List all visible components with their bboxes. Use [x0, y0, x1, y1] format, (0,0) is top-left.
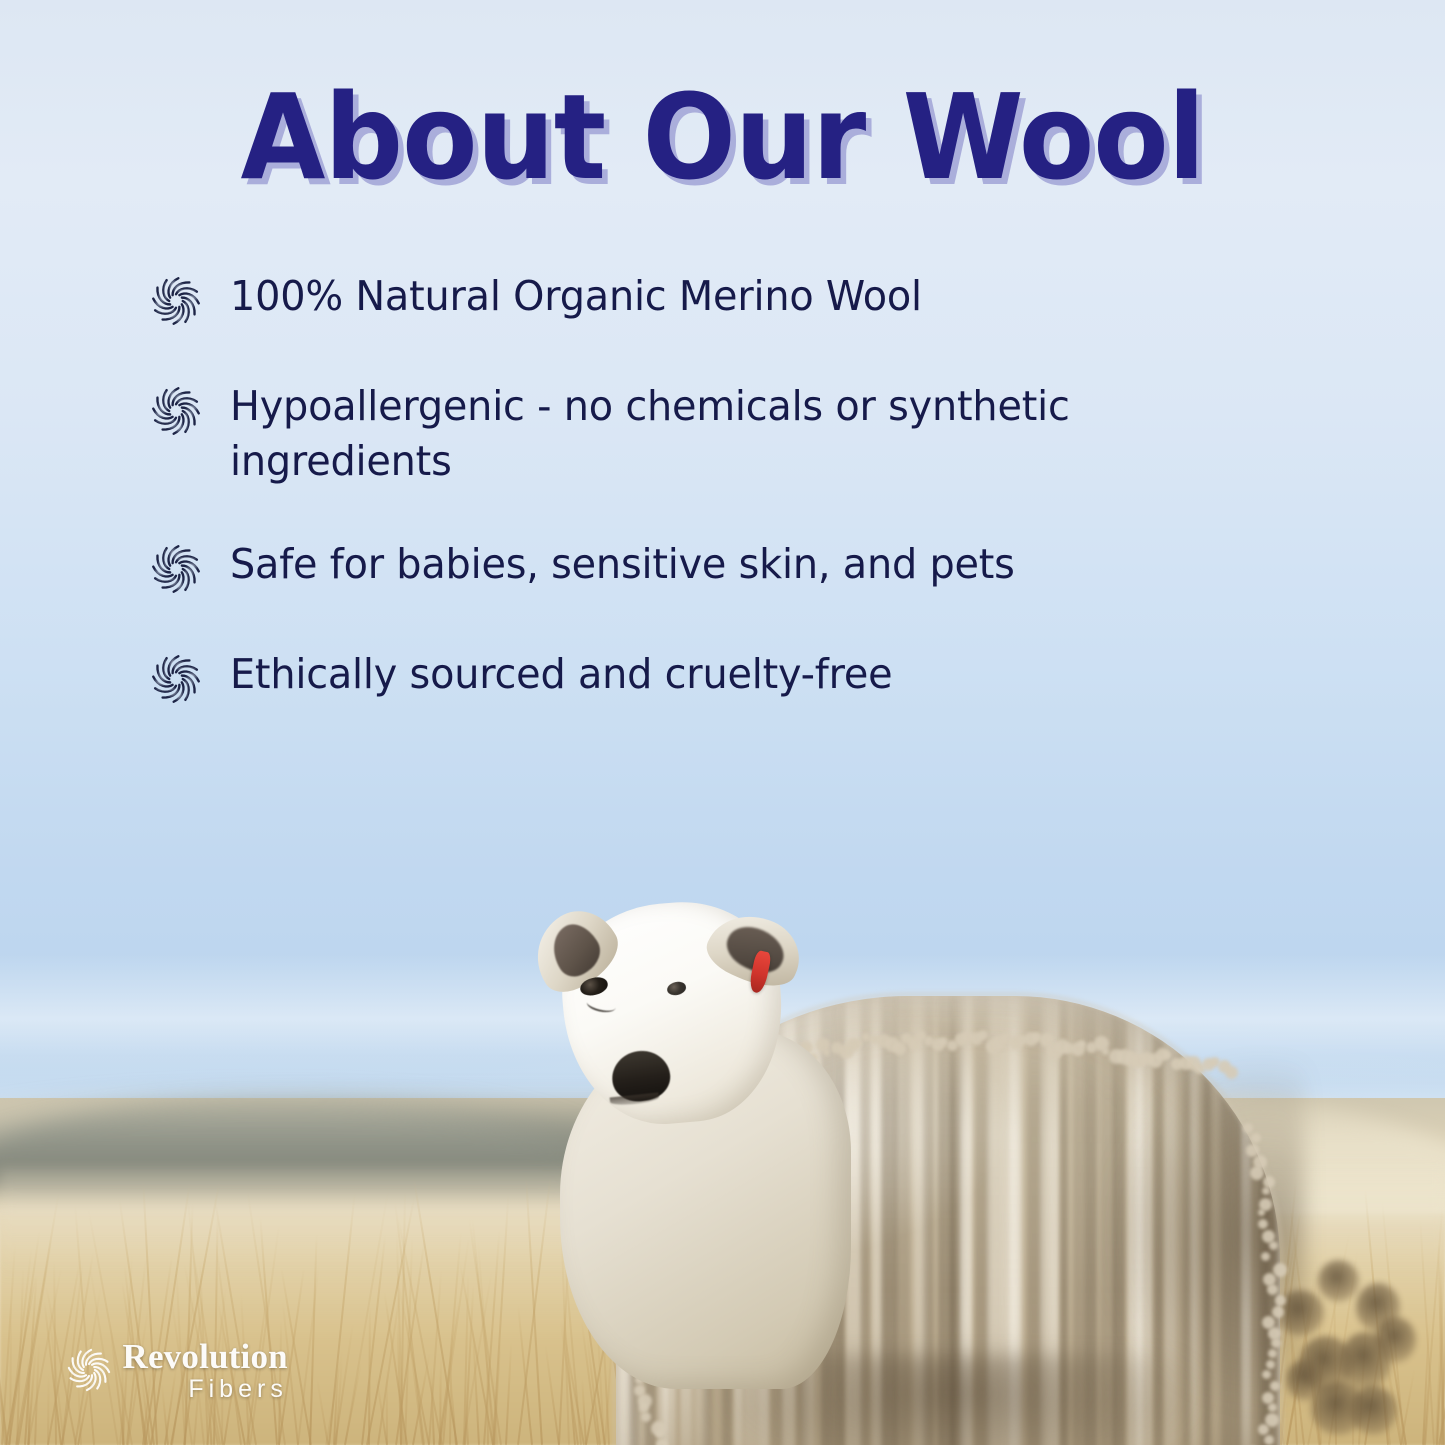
fleece-tuft	[862, 1033, 870, 1041]
wool-swirl-icon	[150, 543, 202, 595]
fleece-tuft	[641, 1412, 651, 1422]
fleece-tuft	[854, 1039, 862, 1047]
bush-blob	[1350, 1386, 1398, 1436]
fleece-tuft	[1258, 1219, 1268, 1229]
feature-text: Safe for babies, sensitive skin, and pet…	[230, 537, 1015, 592]
list-item: Hypoallergenic - no chemicals or synthet…	[150, 379, 1277, 489]
fleece-tuft	[1272, 1306, 1284, 1318]
list-item: 100% Natural Organic Merino Wool	[150, 269, 1277, 327]
fleece-tuft	[1264, 1435, 1274, 1445]
fleece-tuft	[823, 1049, 830, 1056]
list-item: Safe for babies, sensitive skin, and pet…	[150, 537, 1277, 595]
fleece-tuft	[1258, 1209, 1265, 1216]
fleece-tuft	[1225, 1066, 1238, 1079]
fleece-tuft	[1250, 1166, 1264, 1180]
wool-swirl-icon	[150, 275, 202, 327]
fleece-tuft	[1269, 1241, 1278, 1250]
fleece-tuft	[1271, 1338, 1281, 1348]
fleece-tuft	[1262, 1392, 1274, 1404]
fleece-tuft	[1163, 1051, 1171, 1059]
page-title: About Our Wool	[51, 77, 1395, 197]
brand-logo-wordmark: Revolution Fibers	[122, 1339, 287, 1402]
fleece-tuft	[1262, 1370, 1271, 1379]
sheep-photo-subject	[527, 903, 1336, 1445]
bush-blob	[1375, 1317, 1416, 1363]
fleece-tuft	[1258, 1424, 1269, 1435]
fleece-tuft	[1273, 1263, 1287, 1277]
fleece-tuft	[656, 1430, 664, 1438]
revolution-fibers-swirl-logo-icon	[66, 1347, 112, 1393]
fleece-tuft	[1268, 1349, 1277, 1358]
wool-swirl-icon	[150, 653, 202, 705]
fleece-tuft	[978, 1030, 988, 1040]
list-item: Ethically sourced and cruelty-free	[150, 647, 1277, 705]
fleece-tuft	[1270, 1381, 1280, 1391]
brand-name: Revolution	[122, 1339, 287, 1374]
fleece-tuft	[1268, 1403, 1277, 1412]
fleece-tuft	[1275, 1295, 1286, 1306]
brand-subtitle: Fibers	[122, 1377, 287, 1402]
fleece-tuft	[656, 1439, 668, 1445]
fleece-tuft	[1251, 1133, 1261, 1143]
wool-product-infographic: About Our Wool 100% Natural Organic Meri…	[0, 0, 1445, 1445]
feature-text: Hypoallergenic - no chemicals or synthet…	[230, 379, 1210, 489]
brand-logo: Revolution Fibers	[66, 1339, 287, 1402]
fleece-tuft	[1102, 1048, 1109, 1055]
feature-text: 100% Natural Organic Merino Wool	[230, 269, 922, 324]
sheep-ear-left-inner	[543, 916, 608, 982]
fleece-tuft	[1266, 1360, 1275, 1369]
fleece-tuft	[1243, 1123, 1253, 1133]
fleece-tuft	[1261, 1252, 1270, 1261]
feature-list: 100% Natural Organic Merino Wool Hypoall…	[150, 269, 1277, 757]
fleece-tuft	[1262, 1187, 1270, 1195]
wool-swirl-icon	[150, 385, 202, 437]
fleece-tuft	[1267, 1284, 1278, 1295]
feature-text: Ethically sourced and cruelty-free	[230, 647, 892, 702]
